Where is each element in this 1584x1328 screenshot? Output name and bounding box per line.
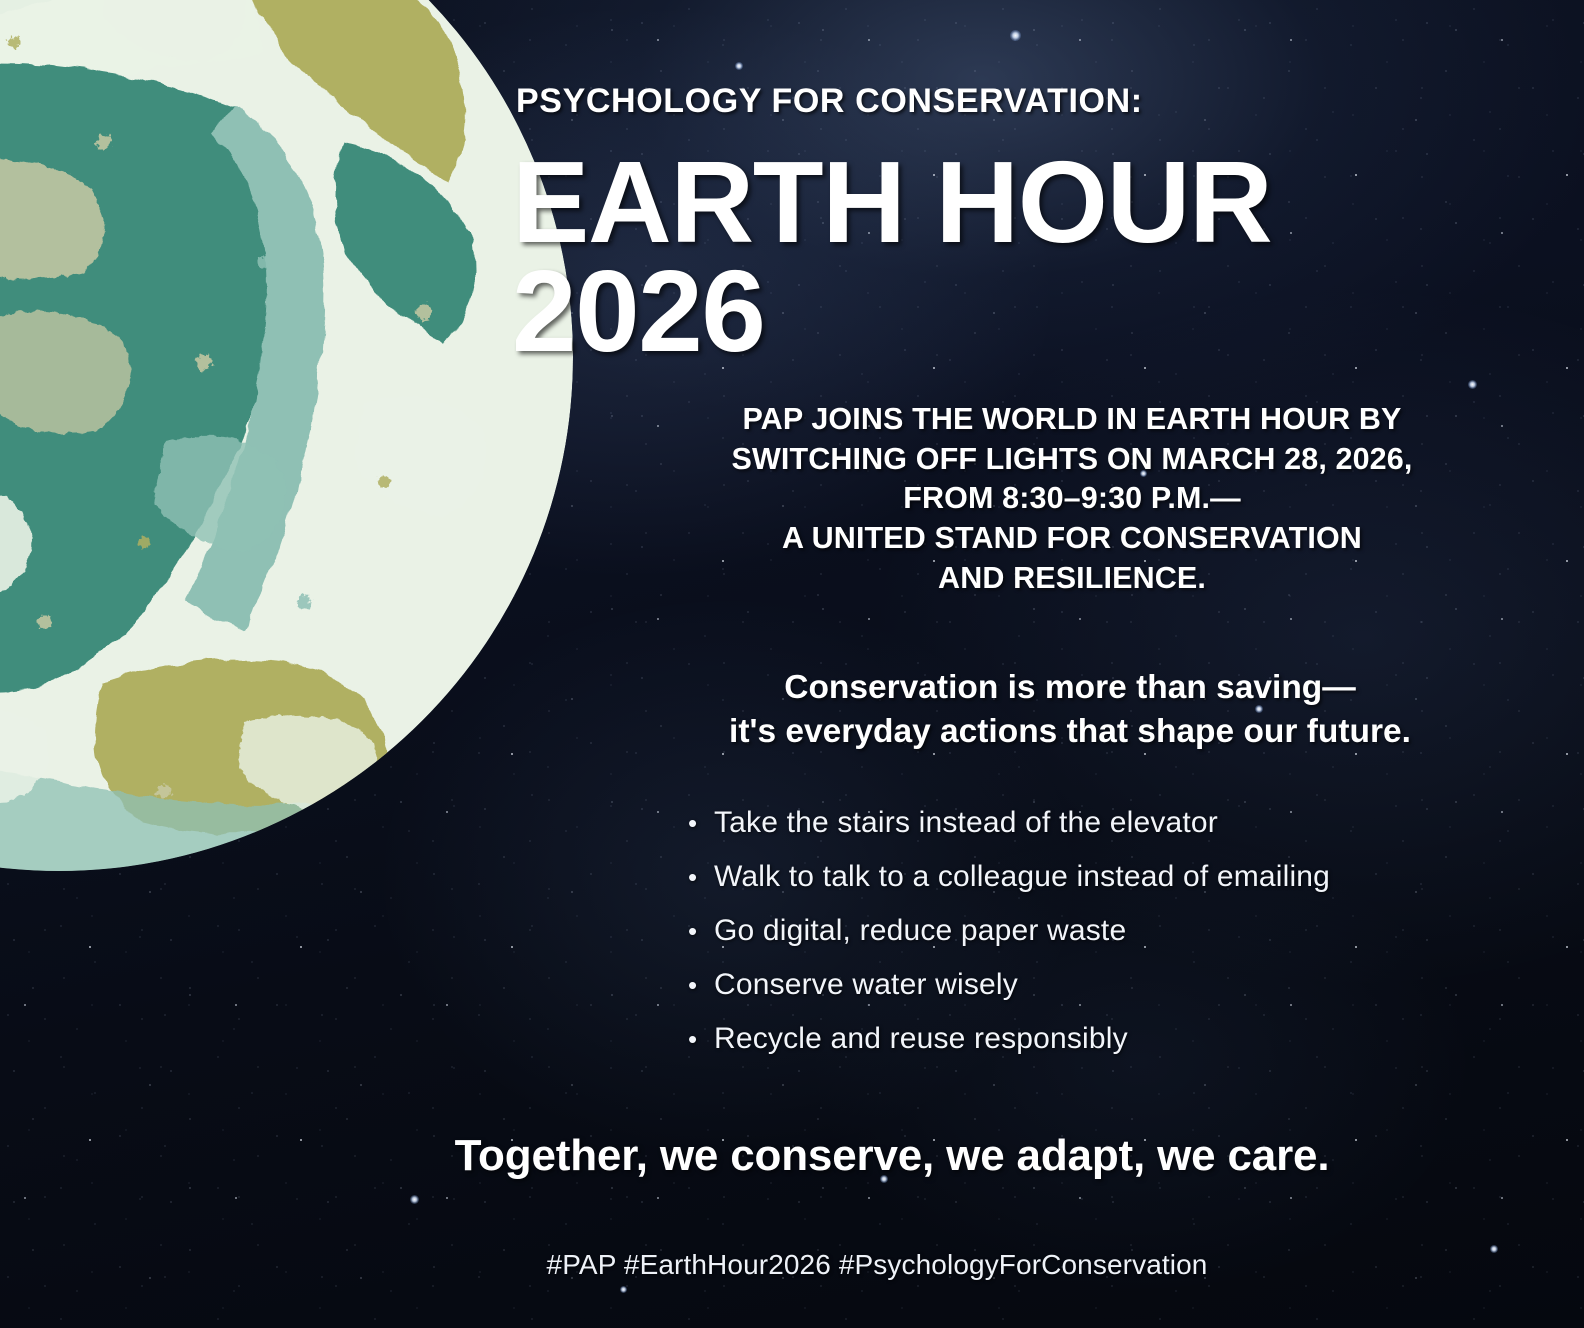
bright-star-icon	[1010, 30, 1021, 41]
earth-hour-poster: PSYCHOLOGY FOR CONSERVATION: EARTH HOUR …	[0, 0, 1584, 1328]
bullet-dot-icon: •	[688, 972, 714, 998]
list-item-label: Take the stairs instead of the elevator	[714, 808, 1218, 838]
pull-quote-line: it's everyday actions that shape our fut…	[570, 710, 1570, 754]
bullet-dot-icon: •	[688, 918, 714, 944]
poster-kicker: PSYCHOLOGY FOR CONSERVATION:	[516, 82, 1143, 121]
list-item-label: Walk to talk to a colleague instead of e…	[714, 862, 1330, 892]
pull-quote: Conservation is more than saving— it's e…	[570, 666, 1570, 753]
poster-hashtags: #PAP #EarthHour2026 #PsychologyForConser…	[0, 1249, 1584, 1281]
title-line-2: 2026	[512, 257, 1542, 366]
list-item: • Conserve water wisely	[688, 970, 1330, 1000]
event-details-paragraph: PAP JOINS THE WORLD IN EARTH HOUR BY SWI…	[604, 400, 1540, 598]
conservation-actions-list: • Take the stairs instead of the elevato…	[688, 808, 1330, 1078]
list-item-label: Conserve water wisely	[714, 970, 1018, 1000]
lede-line: PAP JOINS THE WORLD IN EARTH HOUR BY	[604, 400, 1540, 440]
list-item: • Walk to talk to a colleague instead of…	[688, 862, 1330, 892]
bright-star-icon	[620, 1286, 627, 1293]
bullet-dot-icon: •	[688, 810, 714, 836]
list-item-label: Recycle and reuse responsibly	[714, 1024, 1128, 1054]
poster-tagline: Together, we conserve, we adapt, we care…	[0, 1131, 1584, 1181]
pull-quote-line: Conservation is more than saving—	[570, 666, 1570, 710]
bright-star-icon	[410, 1195, 419, 1204]
list-item: • Take the stairs instead of the elevato…	[688, 808, 1330, 838]
page-title: EARTH HOUR 2026	[512, 148, 1542, 366]
bright-star-icon	[1468, 380, 1477, 389]
lede-line: FROM 8:30–9:30 P.M.—	[604, 479, 1540, 519]
list-item: • Recycle and reuse responsibly	[688, 1024, 1330, 1054]
lede-line: AND RESILIENCE.	[604, 559, 1540, 599]
earth-globe-illustration	[0, 0, 574, 872]
list-item: • Go digital, reduce paper waste	[688, 916, 1330, 946]
bright-star-icon	[735, 62, 743, 70]
lede-line: A UNITED STAND FOR CONSERVATION	[604, 519, 1540, 559]
bullet-dot-icon: •	[688, 1026, 714, 1052]
bullet-dot-icon: •	[688, 864, 714, 890]
lede-line: SWITCHING OFF LIGHTS ON MARCH 28, 2026,	[604, 440, 1540, 480]
list-item-label: Go digital, reduce paper waste	[714, 916, 1126, 946]
